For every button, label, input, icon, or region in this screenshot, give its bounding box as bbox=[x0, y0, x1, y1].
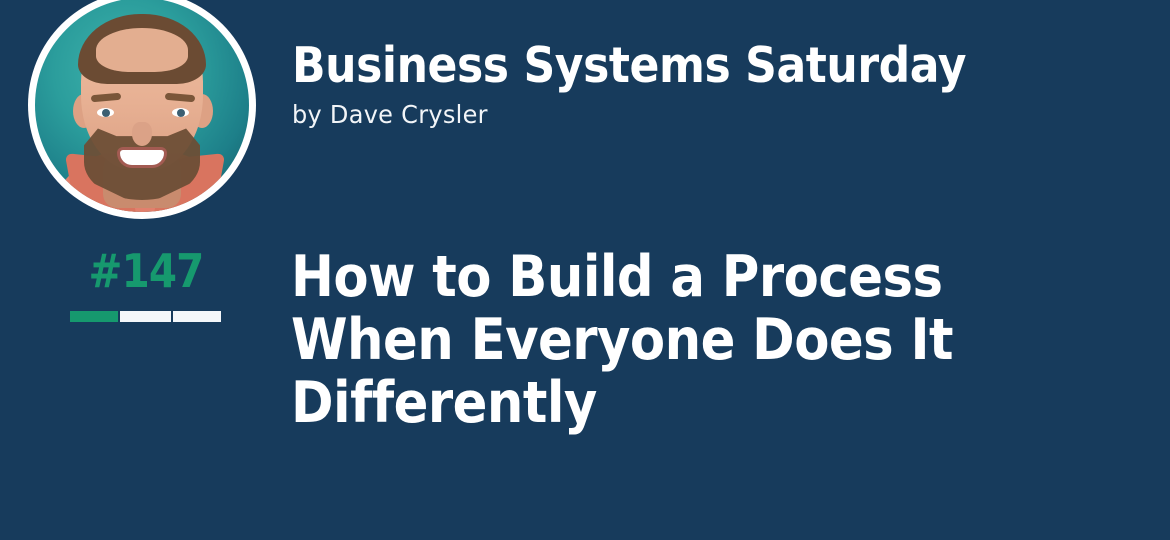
publication-title: Business Systems Saturday bbox=[292, 40, 966, 92]
issue-block: #147 bbox=[70, 248, 222, 322]
photo-eye-right bbox=[172, 108, 189, 117]
headline-line: How to Build a Process bbox=[291, 246, 1002, 309]
headline-line: When Everyone Does It bbox=[291, 309, 1002, 372]
brand-block: Business Systems Saturday by Dave Crysle… bbox=[292, 40, 1041, 130]
newsletter-header-banner: Business Systems Saturday by Dave Crysle… bbox=[0, 0, 1170, 540]
progress-segment-empty bbox=[120, 311, 171, 322]
avatar bbox=[28, 0, 256, 219]
author-byline: by Dave Crysler bbox=[292, 100, 1011, 130]
photo-mouth bbox=[120, 150, 164, 165]
issue-progress-bar bbox=[70, 311, 221, 322]
headline-line: Differently bbox=[291, 372, 1002, 435]
issue-number: #147 bbox=[79, 248, 213, 294]
headline: How to Build a ProcessWhen Everyone Does… bbox=[291, 246, 1081, 435]
progress-segment-filled bbox=[70, 311, 118, 322]
avatar-photo bbox=[35, 0, 249, 212]
photo-eye-left bbox=[97, 108, 114, 117]
photo-nose bbox=[132, 122, 152, 146]
photo-hair bbox=[78, 14, 206, 84]
progress-segment-empty bbox=[173, 311, 221, 322]
